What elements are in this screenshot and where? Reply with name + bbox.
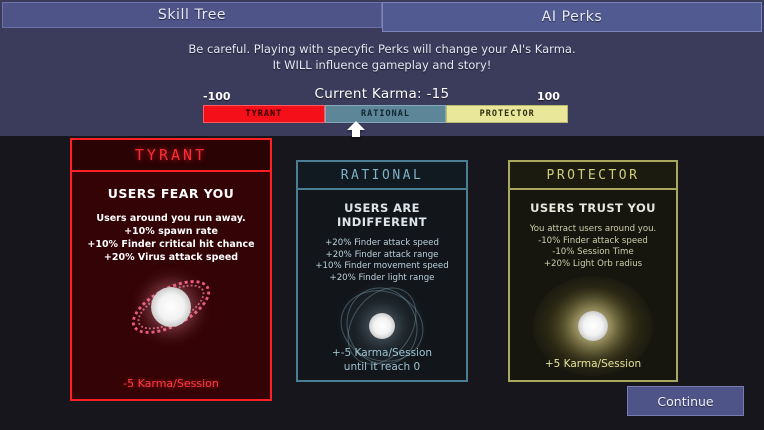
karma-min-label: -100 xyxy=(203,90,231,103)
karma-segment-tyrant-label: TYRANT xyxy=(245,109,282,119)
perk-card-tyrant-title-box: TYRANT xyxy=(70,138,272,172)
tyrant-orb-core xyxy=(151,287,191,327)
perk-card-tyrant-karma-rate: -5 Karma/Session xyxy=(72,376,270,391)
karma-bar: TYRANT RATIONAL PROTECTOR xyxy=(203,105,568,123)
karma-max-label: 100 xyxy=(537,90,560,103)
perk-card-protector-headline: USERS TRUST YOU xyxy=(530,201,656,215)
perk-item: -10% Session Time xyxy=(530,247,657,259)
perk-card-rational-body: USERS ARE INDIFFERENT +20% Finder attack… xyxy=(296,190,468,382)
perk-card-tyrant-body: USERS FEAR YOU Users around you run away… xyxy=(70,172,272,401)
perk-item: +20% Light Orb radius xyxy=(530,259,657,271)
perk-card-protector[interactable]: PROTECTOR USERS TRUST YOU You attract us… xyxy=(508,160,678,382)
tab-skill-tree[interactable]: Skill Tree xyxy=(2,2,382,28)
perk-card-tyrant[interactable]: TYRANT USERS FEAR YOU Users around you r… xyxy=(70,138,272,401)
perk-card-rational-karma-rate: +-5 Karma/Session xyxy=(298,346,466,360)
perk-item: +10% spawn rate xyxy=(87,225,254,238)
perk-item: Users around you run away. xyxy=(87,212,254,225)
tab-ai-perks-label: AI Perks xyxy=(542,9,603,25)
perk-item: +10% Finder critical hit chance xyxy=(87,238,254,251)
perk-card-tyrant-perk-list: Users around you run away. +10% spawn ra… xyxy=(87,212,254,264)
warning-text: Be careful. Playing with specyfic Perks … xyxy=(0,41,764,73)
rational-orb-core xyxy=(369,313,395,339)
perk-card-tyrant-orb-wrap xyxy=(72,264,270,350)
perk-card-protector-title: PROTECTOR xyxy=(547,168,640,183)
perk-item: +20% Finder attack speed xyxy=(315,238,448,250)
current-karma-title: Current Karma: -15 xyxy=(0,86,764,102)
perk-item: +20% Virus attack speed xyxy=(87,251,254,264)
perk-card-protector-body: USERS TRUST YOU You attract users around… xyxy=(508,190,678,382)
perk-card-rational-karma-note: until it reach 0 xyxy=(298,360,466,374)
karma-segment-rational-label: RATIONAL xyxy=(361,109,410,119)
perk-card-rational-footer: +-5 Karma/Session until it reach 0 xyxy=(298,346,466,374)
tab-ai-perks[interactable]: AI Perks xyxy=(382,2,762,32)
perk-item: +20% Finder attack range xyxy=(315,250,448,262)
tyrant-orb-icon xyxy=(116,264,226,350)
perk-card-protector-perk-list: You attract users around you. -10% Finde… xyxy=(530,224,657,270)
karma-segment-rational: RATIONAL xyxy=(325,105,447,123)
perk-card-tyrant-headline: USERS FEAR YOU xyxy=(108,186,234,201)
perk-card-tyrant-title: TYRANT xyxy=(135,146,207,164)
perk-item: +10% Finder movement speed xyxy=(315,261,448,273)
header-panel: Skill Tree AI Perks Be careful. Playing … xyxy=(0,0,764,136)
perk-item: -10% Finder attack speed xyxy=(530,236,657,248)
karma-segment-tyrant: TYRANT xyxy=(203,105,325,123)
karma-segment-protector-label: PROTECTOR xyxy=(480,109,535,119)
perk-card-rational-title: RATIONAL xyxy=(341,168,424,183)
tab-skill-tree-label: Skill Tree xyxy=(158,7,226,23)
perk-card-protector-karma-rate: +5 Karma/Session xyxy=(510,357,676,372)
continue-button[interactable]: Continue xyxy=(627,386,744,416)
warning-line-1: Be careful. Playing with specyfic Perks … xyxy=(0,41,764,57)
karma-segment-protector: PROTECTOR xyxy=(446,105,568,123)
protector-orb-core xyxy=(578,311,608,341)
perk-card-rational[interactable]: RATIONAL USERS ARE INDIFFERENT +20% Find… xyxy=(296,160,468,382)
warning-line-2: It WILL influence gameplay and story! xyxy=(0,57,764,73)
perk-card-protector-title-box: PROTECTOR xyxy=(508,160,678,190)
tab-bar: Skill Tree AI Perks xyxy=(0,0,764,32)
perk-card-tyrant-footer: -5 Karma/Session xyxy=(72,376,270,391)
perk-item: You attract users around you. xyxy=(530,224,657,236)
perk-card-rational-headline: USERS ARE INDIFFERENT xyxy=(298,201,466,229)
continue-button-label: Continue xyxy=(657,394,713,409)
perk-card-rational-title-box: RATIONAL xyxy=(296,160,468,190)
perk-card-protector-footer: +5 Karma/Session xyxy=(510,357,676,372)
